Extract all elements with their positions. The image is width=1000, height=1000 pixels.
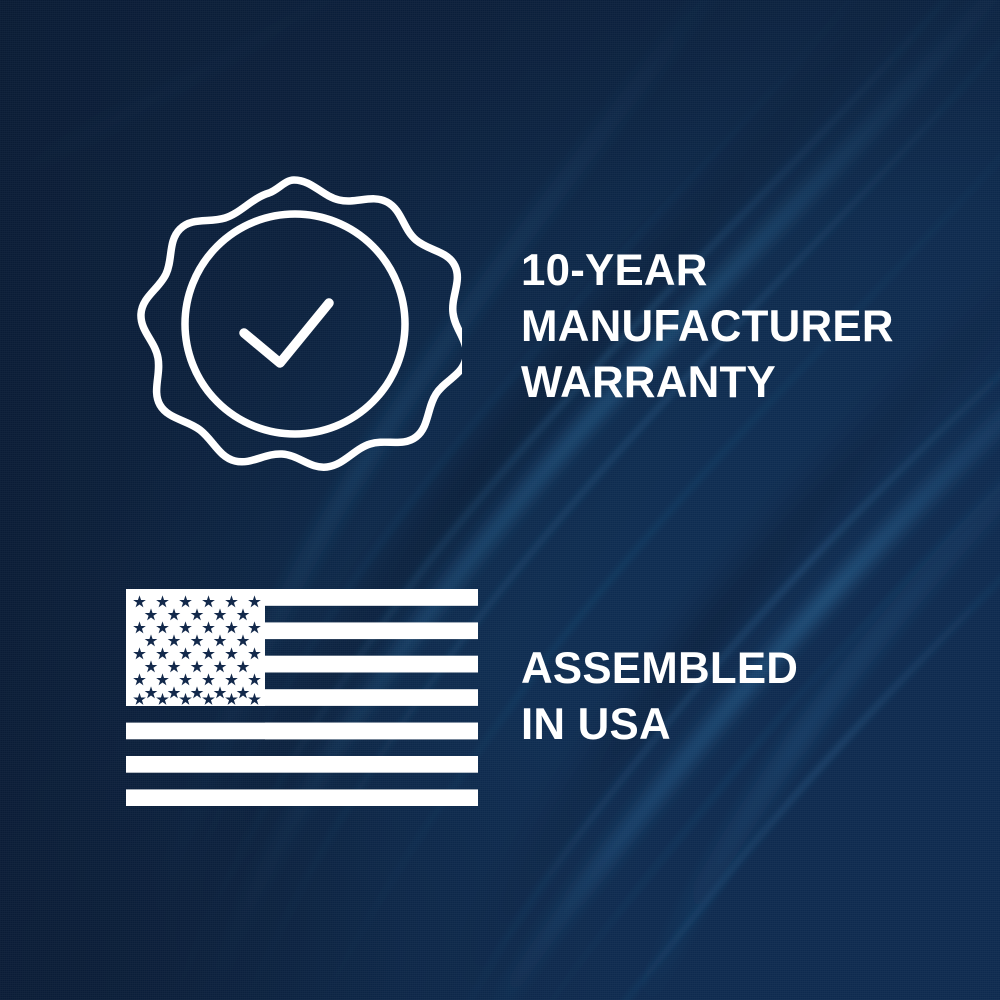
background-navy-overlay	[0, 0, 1000, 1000]
background-base-gradient	[0, 0, 1000, 1000]
promo-graphic: 10-YEAR MANUFACTURER WARRANTY	[0, 0, 1000, 1000]
background-wave-streaks	[0, 0, 1000, 1000]
background-shadow-bands	[0, 0, 1000, 1000]
background-top-vignette	[0, 0, 1000, 1000]
seal-scallop-outline	[141, 180, 462, 467]
usa-flag-icon	[126, 589, 478, 806]
seal-inner-circle	[185, 214, 405, 434]
flag-canton	[126, 589, 265, 706]
background-grain-texture	[0, 0, 1000, 1000]
warranty-headline: 10-YEAR MANUFACTURER WARRANTY	[521, 243, 945, 411]
background-bottomleft-vignette	[0, 0, 1000, 1000]
assembled-headline: ASSEMBLED IN USA	[521, 641, 945, 753]
checkmark-icon	[244, 303, 329, 363]
badge-check-seal-icon	[126, 171, 462, 497]
background-left-vignette	[0, 0, 1000, 1000]
